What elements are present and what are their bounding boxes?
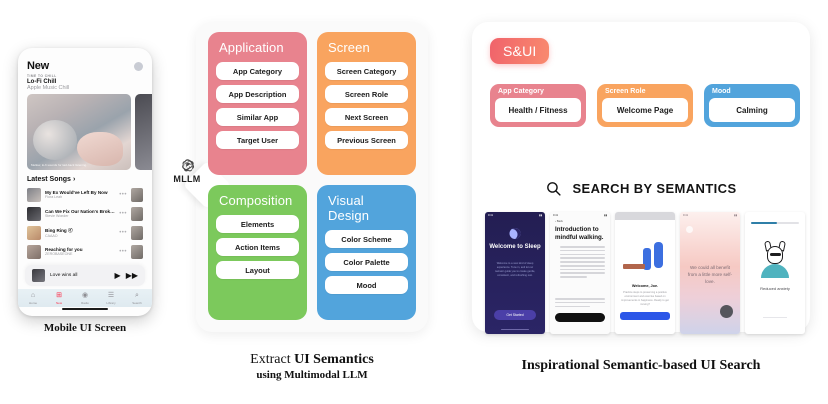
sui-badge: S&UI: [490, 38, 549, 64]
now-playing-bar[interactable]: Love wins all ▶ ▶▶: [25, 265, 145, 286]
song-artist: Flora Leah: [45, 195, 115, 199]
chevron-right-icon: ›: [73, 176, 75, 183]
album-art: [27, 226, 41, 240]
caption-bold: UI Semantics: [294, 352, 374, 367]
eyes-shape: [770, 253, 781, 256]
attribute-pill[interactable]: Color Palette: [325, 253, 408, 271]
punching-bag-illustration: [654, 242, 663, 268]
mllm-label: MLLM: [160, 174, 214, 184]
phone-header: New: [18, 57, 152, 74]
now-playing-artwork: [32, 269, 45, 282]
now-playing-title: Love wins all: [50, 273, 110, 278]
album-art-secondary: [131, 207, 143, 221]
result-thumbnail-reduced-anxiety[interactable]: Reduced anxiety: [745, 212, 805, 334]
list-item[interactable]: Reaching for you ZEROBASEONE •••: [27, 242, 143, 261]
result-title: Welcome, Joe.: [615, 284, 675, 288]
chip-label: Screen Role: [605, 88, 688, 95]
tab-bar: ⌂ Home ⊞ New ◉ Radio ☰ Library ⌕ Searc: [18, 289, 152, 307]
progress-bar: [751, 222, 799, 224]
attribute-pill[interactable]: Next Screen: [325, 108, 408, 126]
category-title: Visual Design: [328, 193, 408, 223]
phone-status-bar: [18, 48, 152, 57]
attribute-pill[interactable]: Mood: [325, 276, 408, 294]
semantic-search-panel: S&UI App Category Health / Fitness Scree…: [472, 22, 810, 332]
list-item[interactable]: Can We Fix Our Nation's Broken... Stevie…: [27, 204, 143, 223]
attribute-pill[interactable]: Color Scheme: [325, 230, 408, 248]
home-icon: ⌂: [20, 292, 46, 300]
song-artist: Stevie Wonder: [45, 214, 115, 218]
result-quote: We could all benefit from a little more …: [686, 264, 734, 285]
more-options-icon[interactable]: •••: [119, 211, 127, 217]
tab-label: Home: [20, 301, 46, 305]
caption-mobile-ui-screen: Mobile UI Screen: [18, 322, 152, 334]
featured-kicker: TIME TO CHILL: [27, 74, 143, 78]
floating-action-button[interactable]: [720, 305, 733, 318]
song-list: My Ex Would've Left By Now Flora Leah ••…: [18, 185, 152, 261]
begin-walk-button[interactable]: [555, 313, 605, 322]
library-icon: ☰: [98, 292, 124, 300]
result-thumbnail-welcome-joe[interactable]: Welcome, Joe. Practice steps to preservi…: [615, 212, 675, 334]
chip-value: Welcome Page: [602, 98, 688, 122]
result-thumbnail-self-love[interactable]: 9:41▮▮ We could all benefit from a littl…: [680, 212, 740, 334]
get-started-button[interactable]: Get Started: [494, 310, 536, 320]
search-icon: ⌕: [124, 292, 150, 300]
back-button[interactable]: ‹ Back: [555, 219, 563, 223]
search-icon: [545, 180, 562, 197]
attribute-pill[interactable]: App Description: [216, 85, 299, 103]
result-body-lines: [560, 246, 605, 280]
tab-home[interactable]: ⌂ Home: [20, 292, 46, 305]
mobile-ui-screen-mockup: New TIME TO CHILL Lo-Fi Chill Apple Musi…: [18, 48, 152, 316]
attribute-pill[interactable]: Action Items: [216, 238, 299, 256]
more-options-icon[interactable]: •••: [119, 192, 127, 198]
caption-prefix: Extract: [250, 352, 294, 367]
status-bar: 9:41▮▮: [680, 212, 740, 217]
tab-label: New: [46, 301, 72, 305]
category-title: Application: [219, 40, 299, 55]
section-label: Latest Songs: [27, 176, 71, 183]
bench-illustration: [623, 264, 645, 269]
play-button[interactable]: ▶: [115, 271, 121, 280]
semantics-grid: Application App Category App Description…: [208, 32, 416, 320]
album-art-secondary: [131, 245, 143, 259]
chip-screen-role[interactable]: Screen Role Welcome Page: [597, 84, 693, 127]
category-card-application: Application App Category App Description…: [208, 32, 307, 175]
result-thumbnail-welcome-to-sleep[interactable]: 9:41▮▮ Welcome to Sleep Welcome to a new…: [485, 212, 545, 334]
attribute-pill[interactable]: App Category: [216, 62, 299, 80]
user-avatar-icon[interactable]: [134, 62, 143, 71]
attribute-pill[interactable]: Similar App: [216, 108, 299, 126]
more-options-icon[interactable]: •••: [119, 249, 127, 255]
mllm-badge: MLLM: [160, 158, 214, 184]
tab-radio[interactable]: ◉ Radio: [72, 292, 98, 305]
tab-library[interactable]: ☰ Library: [98, 292, 124, 305]
tab-label: Radio: [72, 301, 98, 305]
result-title: Welcome to Sleep: [485, 243, 545, 251]
result-caption: Reduced anxiety: [745, 286, 805, 291]
album-art-secondary: [131, 226, 143, 240]
moon-icon: [510, 228, 521, 239]
radio-icon: ◉: [72, 292, 98, 300]
back-button-icon[interactable]: [686, 226, 693, 233]
category-title: Screen: [328, 40, 408, 55]
caption-extract-ui-semantics: Extract UI Semantics using Multimodal LL…: [196, 352, 428, 381]
result-title: Introduction to mindful walking.: [555, 226, 605, 241]
album-art: [27, 245, 41, 259]
attribute-pill[interactable]: Target User: [216, 131, 299, 149]
tab-label: Search: [124, 301, 150, 305]
tab-search[interactable]: ⌕ Search: [124, 292, 150, 305]
attribute-pill[interactable]: Elements: [216, 215, 299, 233]
page-title: New: [27, 60, 49, 72]
ui-semantics-panel: Application App Category App Description…: [196, 22, 428, 332]
result-thumbnail-mindful-walking[interactable]: 9:41▮▮ ‹ Back Introduction to mindful wa…: [550, 212, 610, 334]
chip-value: Calming: [709, 98, 795, 122]
caption-subline: using Multimodal LLM: [196, 369, 428, 381]
result-body: Practice steps to preserving a positive …: [621, 291, 669, 307]
artwork-shape: [33, 120, 77, 160]
chip-label: App Category: [498, 88, 581, 95]
phone-frame: New TIME TO CHILL Lo-Fi Chill Apple Musi…: [18, 48, 152, 316]
category-card-visual-design: Visual Design Color Scheme Color Palette…: [317, 185, 416, 320]
status-bar: 9:41▮▮: [550, 212, 610, 217]
result-body: Welcome to a new kind of sleep experienc…: [492, 262, 538, 278]
attribute-pill[interactable]: Screen Category: [325, 62, 408, 80]
chip-value: Health / Fitness: [495, 98, 581, 122]
home-indicator: [501, 329, 529, 330]
more-options-icon[interactable]: •••: [119, 230, 127, 236]
result-body-lines-2: [555, 298, 605, 309]
chip-mood[interactable]: Mood Calming: [704, 84, 800, 127]
tab-label: Library: [98, 301, 124, 305]
album-art-secondary: [131, 188, 143, 202]
featured-meta: TIME TO CHILL Lo-Fi Chill Apple Music Ch…: [18, 74, 152, 91]
artwork-shape: [77, 132, 123, 166]
semantic-chips: App Category Health / Fitness Screen Rol…: [490, 84, 800, 127]
status-bar: 9:41▮▮: [485, 212, 545, 217]
home-indicator: [62, 308, 108, 310]
attribute-pill[interactable]: Screen Role: [325, 85, 408, 103]
song-artist: ZEROBASEONE: [45, 252, 115, 256]
category-card-composition: Composition Elements Action Items Layout: [208, 185, 307, 320]
figure-canvas: New TIME TO CHILL Lo-Fi Chill Apple Musi…: [0, 0, 828, 404]
featured-card[interactable]: Mellow, lo-fi sounds for laid-back liste…: [27, 94, 131, 170]
get-started-button[interactable]: [620, 312, 670, 320]
featured-card-caption: Mellow, lo-fi sounds for laid-back liste…: [31, 163, 127, 167]
chip-app-category[interactable]: App Category Health / Fitness: [490, 84, 586, 127]
caption-inspirational-search: Inspirational Semantic-based UI Search: [472, 358, 810, 374]
chip-label: Mood: [712, 88, 795, 95]
album-art: [27, 207, 41, 221]
tab-new[interactable]: ⊞ New: [46, 292, 72, 305]
section-header-latest-songs[interactable]: Latest Songs ›: [18, 170, 152, 185]
featured-carousel[interactable]: Mellow, lo-fi sounds for laid-back liste…: [18, 91, 152, 170]
category-title: Composition: [219, 193, 299, 208]
divider: [763, 317, 787, 318]
category-card-screen: Screen Screen Category Screen Role Next …: [317, 32, 416, 175]
search-results: 9:41▮▮ Welcome to Sleep Welcome to a new…: [485, 212, 797, 334]
attribute-pill[interactable]: Layout: [216, 261, 299, 279]
album-art: [27, 188, 41, 202]
openai-flower-icon: [180, 158, 195, 173]
list-item[interactable]: Bing Ring ⓔ CAAAO •••: [27, 223, 143, 242]
featured-card-next[interactable]: [135, 94, 152, 170]
next-track-button[interactable]: ▶▶: [126, 271, 138, 280]
search-label: SEARCH BY SEMANTICS: [572, 181, 736, 196]
new-grid-icon: ⊞: [46, 292, 72, 300]
song-artist: CAAAO: [45, 234, 115, 238]
list-item[interactable]: My Ex Would've Left By Now Flora Leah ••…: [27, 185, 143, 204]
search-by-semantics-row[interactable]: SEARCH BY SEMANTICS: [472, 180, 810, 197]
status-bar: [615, 212, 675, 220]
attribute-pill[interactable]: Previous Screen: [325, 131, 408, 149]
